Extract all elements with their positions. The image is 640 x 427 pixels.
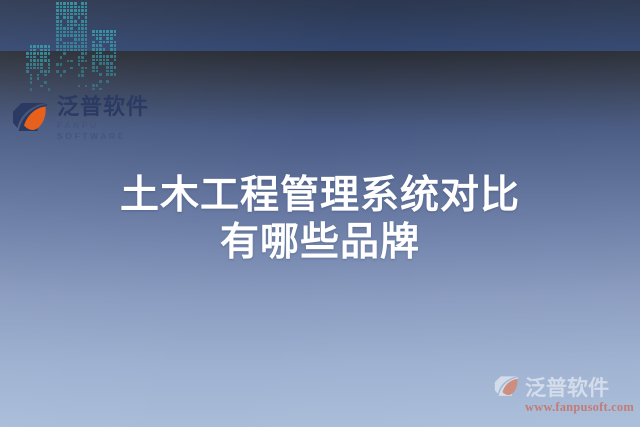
fanpu-swoosh-logo-icon	[12, 101, 52, 137]
brand-logo: 泛普软件 FANPU SOFTWARE	[12, 95, 172, 143]
promo-banner: 泛普软件 FANPU SOFTWARE 土木工程管理系统对比 有哪些品牌 泛普软…	[0, 0, 640, 427]
brand-logo-text: 泛普软件 FANPU SOFTWARE	[57, 96, 172, 142]
fanpu-swoosh-logo-icon	[494, 375, 522, 400]
watermark-url: www.fanpusoft.com	[494, 400, 634, 415]
brand-name-en: FANPU SOFTWARE	[57, 120, 172, 142]
skyline-tower	[26, 45, 51, 92]
brand-name-cn: 泛普软件	[57, 96, 172, 119]
page-title-line-1: 土木工程管理系统对比	[0, 172, 640, 219]
watermark-brand-name: 泛普软件	[525, 377, 609, 399]
watermark-logo-row: 泛普软件	[494, 375, 634, 400]
pixel-skyline-icon	[26, 0, 121, 92]
page-title-line-2: 有哪些品牌	[0, 219, 640, 266]
page-title: 土木工程管理系统对比 有哪些品牌	[0, 172, 640, 266]
skyline-tower	[56, 2, 88, 92]
skyline-tower	[92, 30, 117, 91]
watermark: 泛普软件 www.fanpusoft.com	[494, 375, 634, 415]
